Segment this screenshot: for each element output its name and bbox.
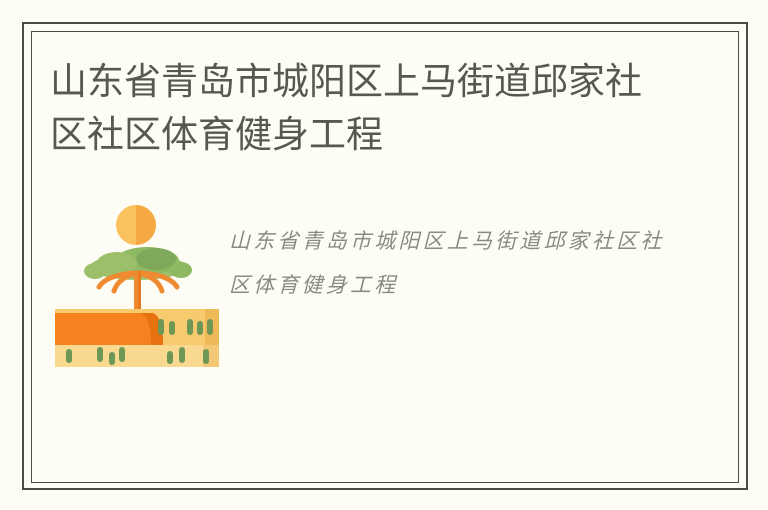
ground-lower-band-shape <box>55 345 219 367</box>
page-title: 山东省青岛市城阳区上马街道邱家社区社区体育健身工程 <box>50 55 650 161</box>
savanna-landscape-icon <box>55 199 219 367</box>
sun-shape <box>116 205 156 245</box>
orange-hill-shape <box>55 313 163 345</box>
certificate-card: 山东省青岛市城阳区上马街道邱家社区社区体育健身工程 <box>0 0 768 510</box>
handwritten-caption: 山东省青岛市城阳区上马街道邱家社区社区体育健身工程 <box>229 219 669 307</box>
card-content: 山东省青岛市城阳区上马街道邱家社区社区体育健身工程 <box>31 31 739 483</box>
